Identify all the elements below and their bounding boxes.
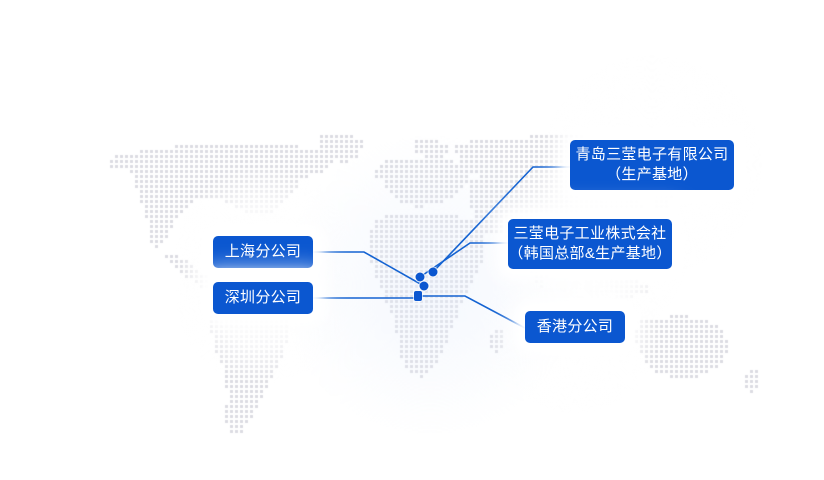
label-hongkong-line: 香港分公司 <box>537 317 614 337</box>
label-korea-hq-line: （韩国总部&生产基地） <box>508 244 671 264</box>
label-shanghai-line: 上海分公司 <box>225 242 302 262</box>
label-shenzhen[interactable]: 深圳分公司 <box>213 282 313 314</box>
label-qingdao-line: 青岛三莹电子有限公司 <box>575 145 728 165</box>
label-qingdao[interactable]: 青岛三莹电子有限公司（生产基地） <box>570 140 734 190</box>
map-marker-shanghai[interactable] <box>420 282 429 291</box>
map-marker-shenzhen[interactable] <box>414 291 422 301</box>
label-korea-hq-line: 三莹电子工业株式会社 <box>513 224 666 244</box>
map-marker-korea[interactable] <box>416 273 425 282</box>
dotted-world-map <box>0 0 824 480</box>
label-shanghai[interactable]: 上海分公司 <box>213 236 313 268</box>
label-qingdao-line: （生产基地） <box>606 165 698 185</box>
label-shenzhen-line: 深圳分公司 <box>225 288 302 308</box>
label-hongkong[interactable]: 香港分公司 <box>525 311 625 343</box>
world-map-infographic: 青岛三莹电子有限公司（生产基地）三莹电子工业株式会社（韩国总部&生产基地）上海分… <box>0 0 824 480</box>
map-marker-qingdao[interactable] <box>429 268 438 277</box>
label-korea-hq[interactable]: 三莹电子工业株式会社（韩国总部&生产基地） <box>508 219 672 269</box>
world-map-canvas <box>0 0 824 480</box>
